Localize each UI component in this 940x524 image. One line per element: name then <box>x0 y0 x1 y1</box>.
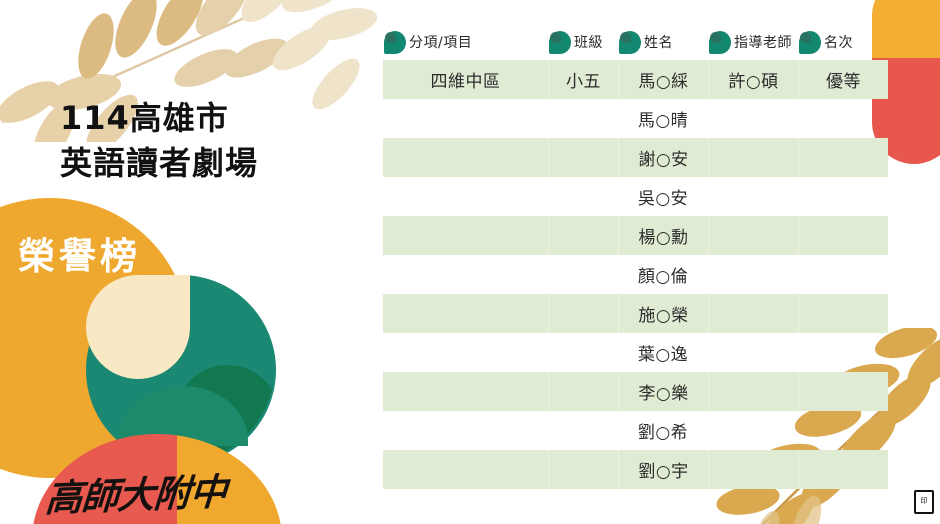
teal-circle-shape <box>86 275 276 465</box>
cream-lens-shape <box>86 275 190 379</box>
table-cell <box>548 294 618 333</box>
table-cell <box>383 138 548 177</box>
table-cell: 馬○綵 <box>618 60 708 99</box>
table-cell: 吳○安 <box>618 177 708 216</box>
table-row: 吳○安 <box>383 177 888 216</box>
table-cell <box>798 255 888 294</box>
table-cell <box>383 450 548 489</box>
table-cell <box>708 372 798 411</box>
table-cell <box>798 450 888 489</box>
table-cell <box>548 450 618 489</box>
honor-roll-slide: 高師大附中 印 114高雄市 <box>0 0 940 524</box>
table-header-cell-class: 班級 <box>548 31 618 54</box>
table-cell <box>383 372 548 411</box>
school-logo-disc <box>32 434 282 524</box>
table-cell <box>383 411 548 450</box>
leaf-icon <box>549 31 571 54</box>
table-cell <box>383 99 548 138</box>
table-row: 馬○晴 <box>383 99 888 138</box>
title-line-1: 114高雄市 <box>60 96 258 141</box>
table-header-cell-name: 姓名 <box>618 31 708 54</box>
slide-title: 114高雄市 英語讀者劇場 <box>60 96 258 187</box>
table-row: 顏○倫 <box>383 255 888 294</box>
table-header-cell-teacher: 指導老師 <box>708 31 798 54</box>
table-cell <box>708 294 798 333</box>
table-row: 劉○希 <box>383 411 888 450</box>
results-table: 分項/項目 班級 姓名 指導老師 名次 四維中區小五馬○綵許○碩優等馬○晴謝○安… <box>383 24 888 489</box>
table-cell <box>548 333 618 372</box>
table-cell: 劉○宇 <box>618 450 708 489</box>
table-cell <box>548 177 618 216</box>
table-cell <box>798 411 888 450</box>
table-cell <box>383 294 548 333</box>
table-row: 劉○宇 <box>383 450 888 489</box>
table-cell <box>548 411 618 450</box>
table-cell: 葉○逸 <box>618 333 708 372</box>
table-row: 施○榮 <box>383 294 888 333</box>
table-header-label: 名次 <box>824 32 853 52</box>
table-cell <box>798 177 888 216</box>
table-header-row: 分項/項目 班級 姓名 指導老師 名次 <box>383 24 888 60</box>
table-cell <box>798 372 888 411</box>
table-row: 葉○逸 <box>383 333 888 372</box>
table-cell: 許○碩 <box>708 60 798 99</box>
table-cell <box>708 450 798 489</box>
table-header-label: 分項/項目 <box>409 32 472 52</box>
table-cell <box>798 99 888 138</box>
table-cell <box>548 138 618 177</box>
green-half-disc-shape <box>118 386 248 446</box>
table-header-cell-subject: 分項/項目 <box>383 31 548 54</box>
table-cell <box>383 177 548 216</box>
table-cell <box>383 216 548 255</box>
table-cell <box>798 216 888 255</box>
table-row: 李○樂 <box>383 372 888 411</box>
table-cell: 楊○勳 <box>618 216 708 255</box>
table-cell <box>708 177 798 216</box>
leaf-icon <box>619 31 641 54</box>
table-cell: 李○樂 <box>618 372 708 411</box>
table-cell: 顏○倫 <box>618 255 708 294</box>
table-cell: 優等 <box>798 60 888 99</box>
table-cell <box>708 333 798 372</box>
school-logo-text: 高師大附中 <box>44 460 274 523</box>
table-cell <box>383 333 548 372</box>
table-cell: 施○榮 <box>618 294 708 333</box>
table-cell <box>798 138 888 177</box>
table-cell <box>548 99 618 138</box>
honor-roll-badge: 榮譽榜 <box>18 226 141 280</box>
dark-teal-overlap-shape <box>175 365 280 470</box>
table-cell <box>548 255 618 294</box>
table-cell <box>708 99 798 138</box>
school-logo-seal: 印 <box>914 490 934 514</box>
table-cell <box>548 372 618 411</box>
logo-disc-red-half <box>32 434 177 524</box>
table-row: 楊○勳 <box>383 216 888 255</box>
title-line-2: 英語讀者劇場 <box>60 141 258 186</box>
table-cell <box>708 216 798 255</box>
table-row: 四維中區小五馬○綵許○碩優等 <box>383 60 888 99</box>
table-row: 謝○安 <box>383 138 888 177</box>
table-header-label: 姓名 <box>644 32 673 52</box>
logo-disc-amber-half <box>177 434 282 524</box>
table-cell: 馬○晴 <box>618 99 708 138</box>
leaf-icon <box>799 31 821 54</box>
table-header-label: 班級 <box>574 32 603 52</box>
table-header-label: 指導老師 <box>734 32 792 52</box>
table-header-cell-rank: 名次 <box>798 31 888 54</box>
table-cell: 謝○安 <box>618 138 708 177</box>
table-cell <box>708 255 798 294</box>
table-cell <box>798 333 888 372</box>
table-cell: 四維中區 <box>383 60 548 99</box>
table-cell <box>708 411 798 450</box>
leaf-icon <box>384 31 406 54</box>
table-cell: 小五 <box>548 60 618 99</box>
table-cell <box>383 255 548 294</box>
table-body: 四維中區小五馬○綵許○碩優等馬○晴謝○安吳○安楊○勳顏○倫施○榮葉○逸李○樂劉○… <box>383 60 888 489</box>
table-cell: 劉○希 <box>618 411 708 450</box>
leaf-icon <box>709 31 731 54</box>
table-cell <box>548 216 618 255</box>
table-cell <box>798 294 888 333</box>
table-cell <box>708 138 798 177</box>
